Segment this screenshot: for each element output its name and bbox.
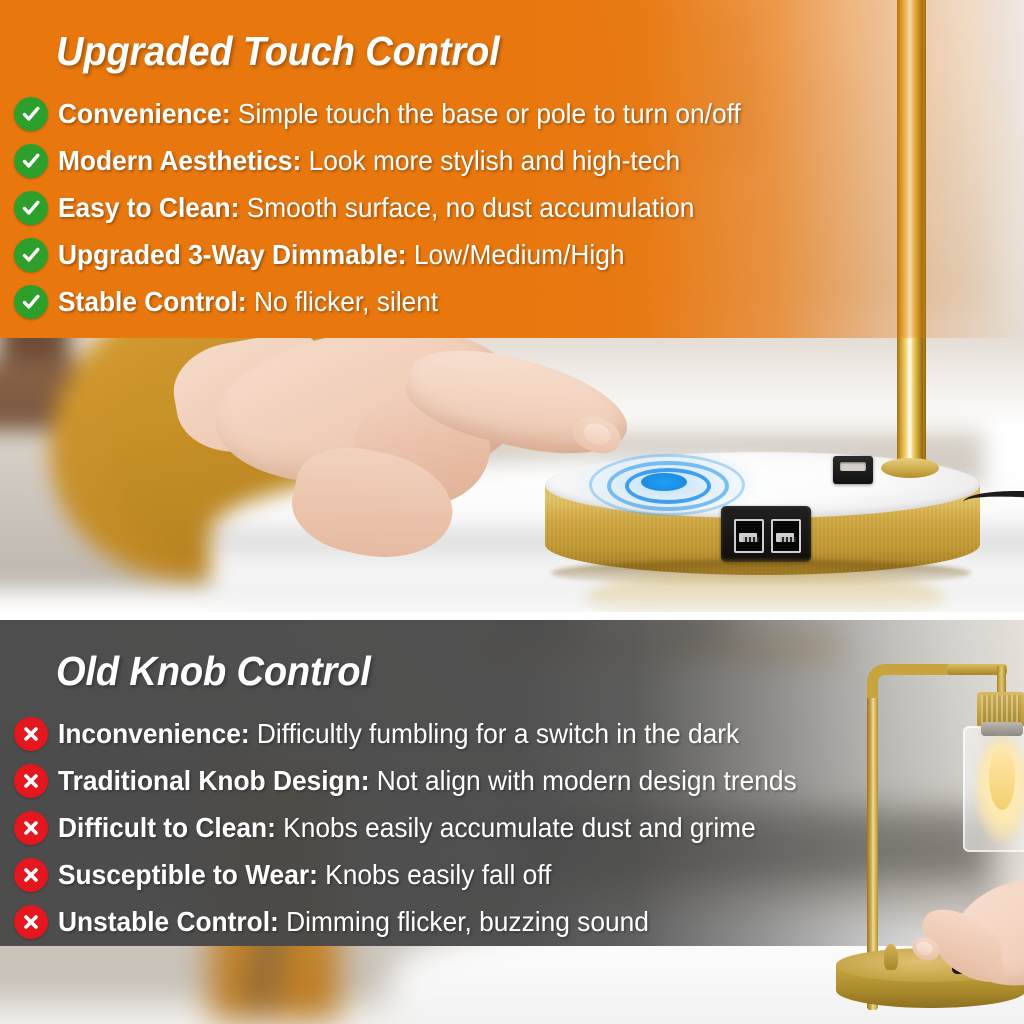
usb-port-right <box>771 519 801 553</box>
check-circle-icon <box>14 191 48 225</box>
list-item-label: Stable Control: <box>58 286 247 317</box>
list-item-text: Convenience: Simple touch the base or po… <box>58 98 741 130</box>
list-item-desc: Not align with modern design trends <box>369 765 796 796</box>
cross-circle-icon <box>14 717 48 751</box>
list-item-desc: Knobs easily fall off <box>318 859 552 890</box>
check-circle-icon <box>14 144 48 178</box>
list-item: Easy to Clean: Smooth surface, no dust a… <box>14 184 784 231</box>
list-item-desc: Smooth surface, no dust accumulation <box>239 192 694 223</box>
top-section-title: Upgraded Touch Control <box>56 28 500 75</box>
hand-touching-base <box>175 332 605 562</box>
list-item-text: Modern Aesthetics: Look more stylish and… <box>58 145 680 177</box>
bottom-drawback-list: Inconvenience: Difficultly fumbling for … <box>14 710 844 945</box>
usb-pins-right <box>780 537 796 542</box>
usb-port-left <box>734 519 764 553</box>
list-item: Inconvenience: Difficultly fumbling for … <box>14 710 844 757</box>
list-item-label: Modern Aesthetics: <box>58 145 301 176</box>
infographic-canvas: Upgraded Touch Control Convenience: Simp… <box>0 0 1024 1024</box>
touch-lamp-base <box>545 452 980 587</box>
touch-ripple-icon <box>589 454 739 510</box>
cross-circle-icon <box>14 905 48 939</box>
list-item: Unstable Control: Dimming flicker, buzzi… <box>14 898 844 945</box>
list-item-text: Difficult to Clean: Knobs easily accumul… <box>58 812 756 844</box>
base-pole-foot <box>884 944 898 970</box>
list-item-desc: Dimming flicker, buzzing sound <box>279 906 649 937</box>
list-item-label: Traditional Knob Design: <box>58 765 369 796</box>
list-item-label: Convenience: <box>58 98 231 129</box>
list-item-label: Unstable Control: <box>58 906 279 937</box>
list-item-desc: Knobs easily accumulate dust and grime <box>276 812 756 843</box>
list-item: Susceptible to Wear: Knobs easily fall o… <box>14 851 844 898</box>
top-benefit-list: Convenience: Simple touch the base or po… <box>14 90 784 325</box>
usb-pins-left <box>743 537 759 542</box>
usb-port-block <box>721 506 811 562</box>
list-item-label: Difficult to Clean: <box>58 812 276 843</box>
upgraded-touch-control-panel: Upgraded Touch Control Convenience: Simp… <box>0 0 1024 612</box>
pole-collar <box>881 458 939 478</box>
list-item-text: Upgraded 3-Way Dimmable: Low/Medium/High <box>58 239 625 271</box>
list-item-label: Susceptible to Wear: <box>58 859 318 890</box>
list-item-text: Traditional Knob Design: Not align with … <box>58 765 797 797</box>
cross-circle-icon <box>14 811 48 845</box>
lamp-arc <box>867 664 957 698</box>
cross-circle-icon <box>14 858 48 892</box>
list-item-desc: Simple touch the base or pole to turn on… <box>231 98 741 129</box>
list-item: Difficult to Clean: Knobs easily accumul… <box>14 804 844 851</box>
usb-tongue-right <box>776 533 794 542</box>
list-item: Modern Aesthetics: Look more stylish and… <box>14 137 784 184</box>
usb-tongue-left <box>739 533 757 542</box>
list-item-text: Easy to Clean: Smooth surface, no dust a… <box>58 192 694 224</box>
list-item-label: Inconvenience: <box>58 718 250 749</box>
check-circle-icon <box>14 97 48 131</box>
list-item: Convenience: Simple touch the base or po… <box>14 90 784 137</box>
list-item: Upgraded 3-Way Dimmable: Low/Medium/High <box>14 231 784 278</box>
list-item-desc: Low/Medium/High <box>407 239 625 270</box>
panel-divider <box>0 612 1024 620</box>
list-item-desc: Difficultly fumbling for a switch in the… <box>250 718 740 749</box>
shade-cap <box>981 722 1023 736</box>
list-item-text: Stable Control: No flicker, silent <box>58 286 438 318</box>
list-item-text: Unstable Control: Dimming flicker, buzzi… <box>58 906 649 938</box>
list-item: Traditional Knob Design: Not align with … <box>14 757 844 804</box>
list-item-label: Easy to Clean: <box>58 192 239 223</box>
list-item-text: Susceptible to Wear: Knobs easily fall o… <box>58 859 551 891</box>
switch-slot <box>840 462 866 471</box>
list-item-text: Inconvenience: Difficultly fumbling for … <box>58 718 739 750</box>
check-circle-icon <box>14 238 48 272</box>
list-item-desc: Look more stylish and high-tech <box>301 145 680 176</box>
power-switch <box>833 456 873 484</box>
cross-circle-icon <box>14 764 48 798</box>
list-item-desc: No flicker, silent <box>247 286 439 317</box>
edison-bulb <box>989 748 1015 810</box>
list-item-label: Upgraded 3-Way Dimmable: <box>58 239 407 270</box>
ripple-core <box>641 473 687 491</box>
bottom-section-title: Old Knob Control <box>56 648 371 695</box>
check-circle-icon <box>14 285 48 319</box>
hand-reaching-knob <box>900 880 1024 1024</box>
list-item: Stable Control: No flicker, silent <box>14 278 784 325</box>
